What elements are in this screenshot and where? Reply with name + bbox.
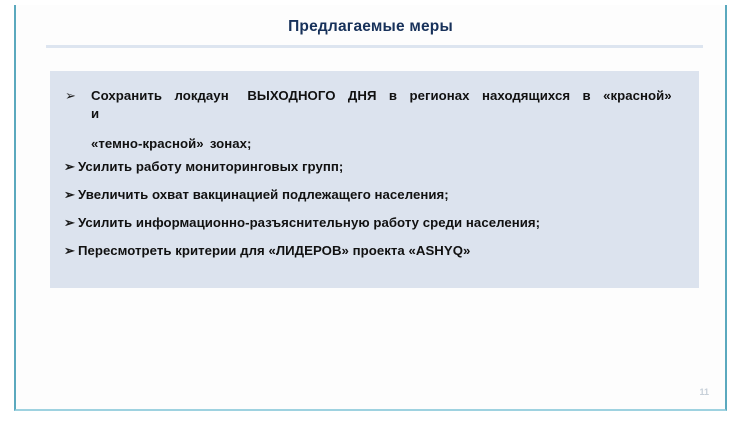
list-item: ➢ Пересмотреть критерии для «ЛИДЕРОВ» пр…: [64, 242, 685, 260]
page-title: Предлагаемые меры: [16, 18, 725, 36]
measures-list-panel: ➢ Сохранить локдаун ВЫХОДНОГО ДНЯ в реги…: [50, 71, 699, 288]
title-divider: [46, 45, 703, 48]
list-item: ➢ Сохранить локдаун ВЫХОДНОГО ДНЯ в реги…: [64, 87, 685, 154]
bullet-arrow-icon: ➢: [64, 214, 78, 232]
bullet-arrow-icon: ➢: [64, 186, 78, 204]
bullet-arrow-icon: ➢: [64, 87, 91, 105]
bullet-arrow-icon: ➢: [64, 158, 78, 176]
list-item: ➢ Усилить информационно-разъяснительную …: [64, 214, 685, 232]
list-item-line-primary: Сохранить локдаун ВЫХОДНОГО ДНЯ в регион…: [91, 88, 684, 121]
list-item-line-continuation: «темно-красной» зонах;: [91, 135, 685, 153]
list-item: ➢ Усилить работу мониторинговых групп;: [64, 158, 685, 176]
list-item-label: Усилить работу мониторинговых групп;: [78, 158, 685, 176]
list-item-label: Пересмотреть критерии для «ЛИДЕРОВ» прое…: [78, 242, 685, 260]
bullet-arrow-icon: ➢: [64, 242, 78, 260]
list-item: ➢ Увеличить охват вакцинацией подлежащег…: [64, 186, 685, 204]
slide-frame: Предлагаемые меры ➢ Сохранить локдаун ВЫ…: [14, 5, 727, 411]
list-item-label: Сохранить локдаун ВЫХОДНОГО ДНЯ в регион…: [91, 87, 685, 154]
list-item-label: Усилить информационно-разъяснительную ра…: [78, 214, 685, 232]
list-item-label: Увеличить охват вакцинацией подлежащего …: [78, 186, 685, 204]
page-number: 11: [699, 387, 709, 397]
